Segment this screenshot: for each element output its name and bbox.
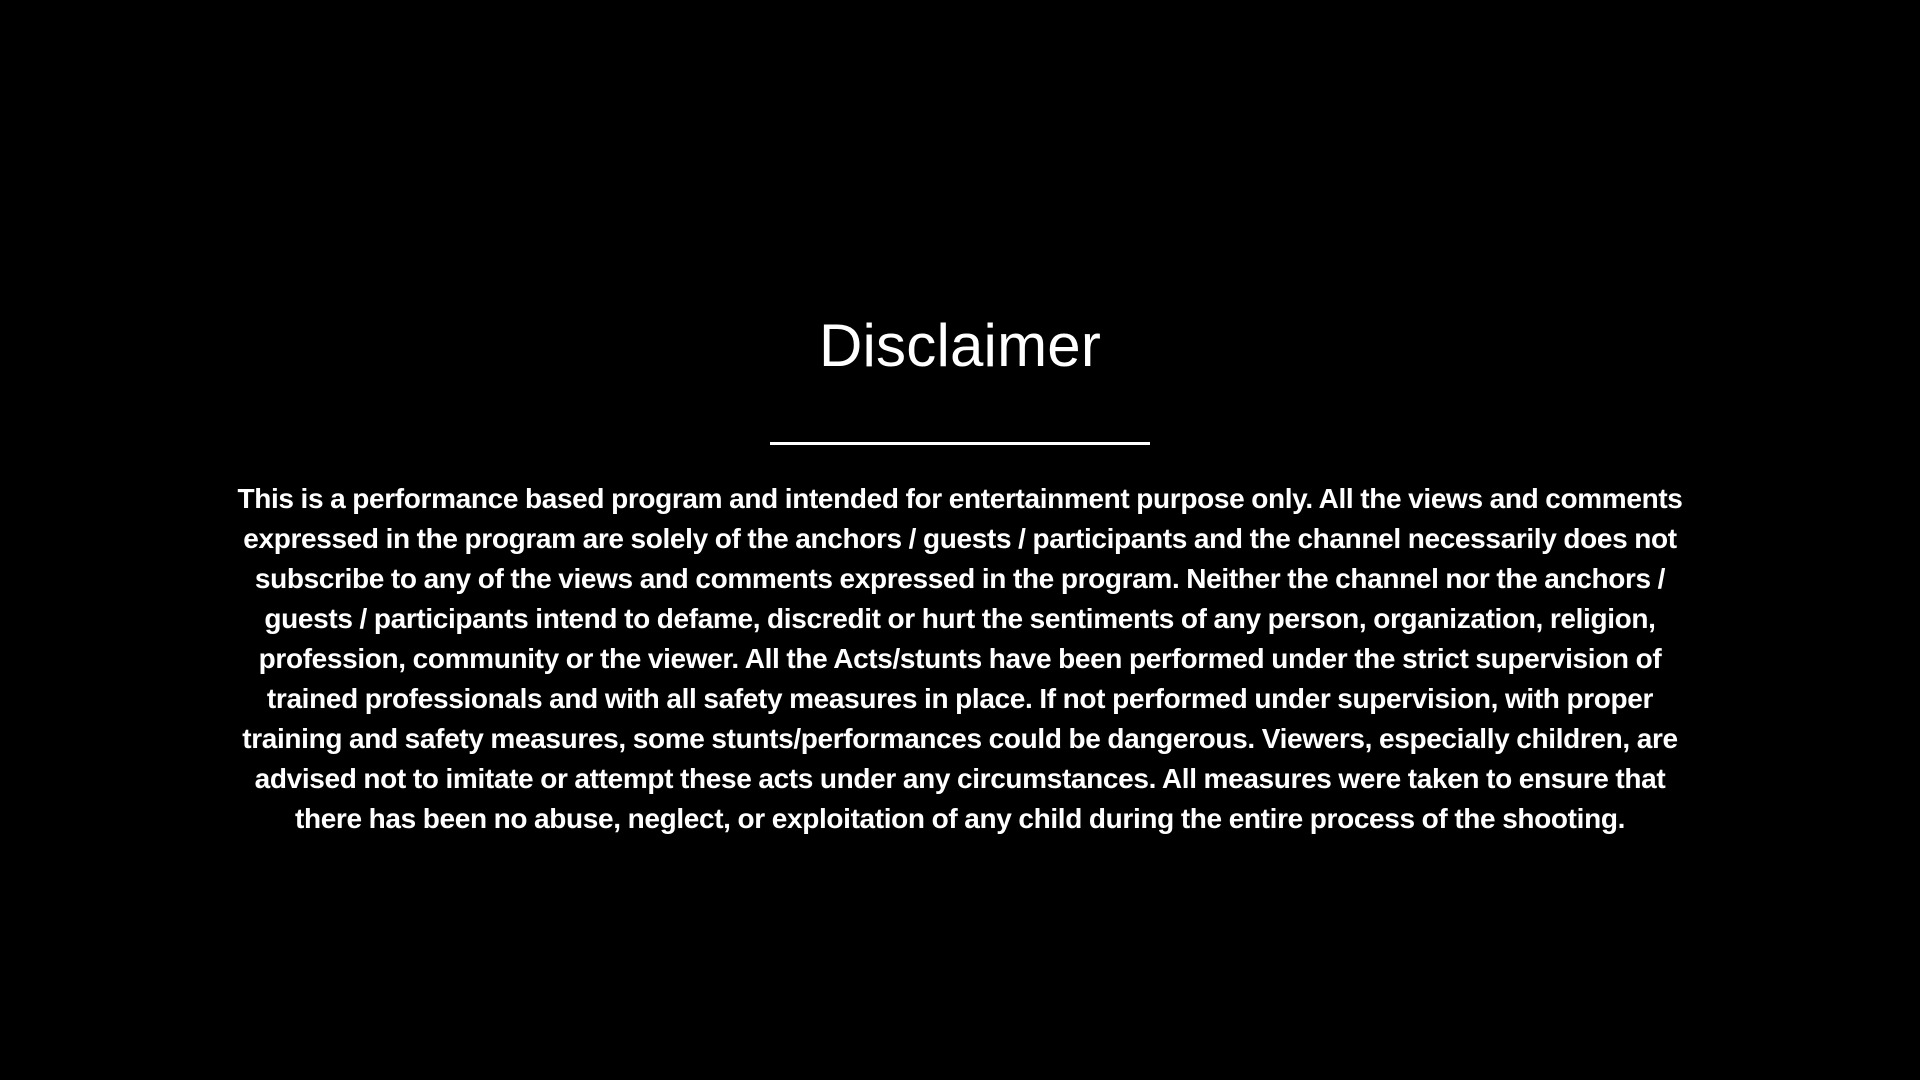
title-underline-rule <box>770 442 1150 445</box>
title-block: Disclaimer <box>770 276 1150 445</box>
disclaimer-slide: Disclaimer This is a performance based p… <box>0 0 1920 1080</box>
page-title: Disclaimer <box>819 316 1101 376</box>
disclaimer-body-text: This is a performance based program and … <box>220 479 1700 839</box>
